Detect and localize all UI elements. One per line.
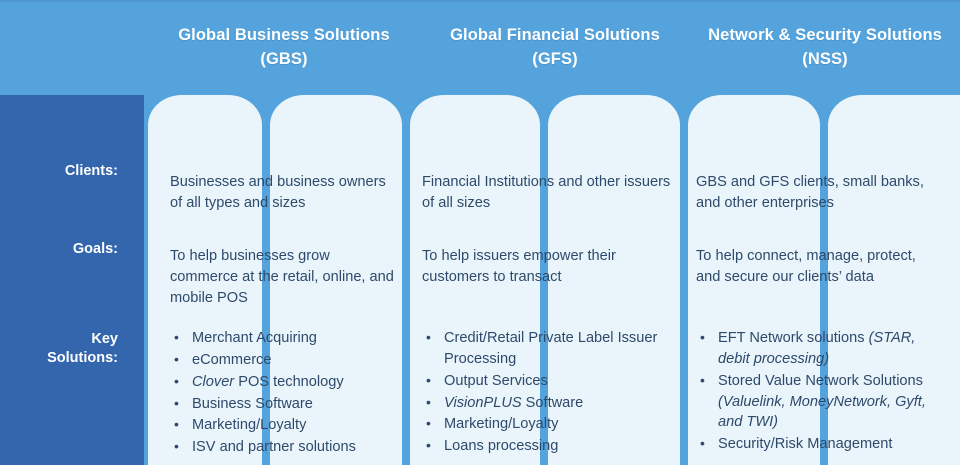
- nss-key-solutions-list: EFT Network solutions (STAR, debit proce…: [696, 328, 936, 455]
- header-column-gbs: Global Business Solutions (GBS): [148, 0, 420, 95]
- bottom-white-margin: [0, 465, 960, 473]
- gbs-clients-block: Businesses and business owners of all ty…: [170, 172, 400, 214]
- nss-goals-block: To help connect, manage, protect, and se…: [696, 246, 936, 288]
- gbs-ks-5: ISV and partner solutions: [192, 439, 356, 455]
- gbs-ks-0: Merchant Acquiring: [192, 330, 317, 346]
- gfs-key-solutions-list: Credit/Retail Private Label Issuer Proce…: [422, 328, 672, 457]
- solutions-matrix-slide: Global Business Solutions (GBS) Global F…: [0, 0, 960, 473]
- gfs-ks-2-italic: VisionPLUS: [444, 395, 522, 411]
- header-column-nss: Network & Security Solutions (NSS): [690, 0, 960, 95]
- header-gbs-line1: Global Business Solutions: [178, 26, 390, 44]
- nss-ks-1: Stored Value Network Solutions: [718, 373, 923, 389]
- list-item: Merchant Acquiring: [170, 328, 400, 349]
- list-item: Business Software: [170, 394, 400, 415]
- list-item: Marketing/Loyalty: [422, 414, 672, 435]
- column-nss: GBS and GFS clients, small banks, and ot…: [696, 88, 936, 465]
- gfs-ks-1: Output Services: [444, 373, 548, 389]
- header-titles: Global Business Solutions (GBS) Global F…: [0, 0, 960, 95]
- nss-goals-text: To help connect, manage, protect, and se…: [696, 246, 936, 288]
- nss-clients-text: GBS and GFS clients, small banks, and ot…: [696, 172, 936, 214]
- nss-ks-2: Security/Risk Management: [718, 436, 892, 452]
- gbs-ks-1: eCommerce: [192, 352, 271, 368]
- gfs-ks-4: Loans processing: [444, 438, 558, 454]
- header-nss-line1: Network & Security Solutions: [708, 26, 942, 44]
- header-gbs-line2: (GBS): [260, 50, 307, 68]
- nss-clients-block: GBS and GFS clients, small banks, and ot…: [696, 172, 936, 214]
- list-item: Loans processing: [422, 436, 672, 457]
- header-nss-line2: (NSS): [802, 50, 847, 68]
- column-gbs: Businesses and business owners of all ty…: [170, 88, 400, 465]
- list-item: Security/Risk Management: [696, 434, 936, 455]
- gbs-ks-4: Marketing/Loyalty: [192, 417, 306, 433]
- gfs-ks-2: Software: [522, 395, 584, 411]
- list-item: EFT Network solutions (STAR, debit proce…: [696, 328, 936, 370]
- gbs-key-solutions-list: Merchant Acquiring eCommerce Clover POS …: [170, 328, 400, 458]
- gfs-goals-text: To help issuers empower their customers …: [422, 246, 672, 288]
- list-item: Output Services: [422, 371, 672, 392]
- gfs-clients-text: Financial Institutions and other issuers…: [422, 172, 672, 214]
- gfs-key-solutions-block: Credit/Retail Private Label Issuer Proce…: [422, 328, 672, 458]
- list-item: VisionPLUS Software: [422, 393, 672, 414]
- header-gfs-line2: (GFS): [532, 50, 577, 68]
- gbs-ks-2: POS technology: [234, 374, 344, 390]
- gfs-goals-block: To help issuers empower their customers …: [422, 246, 672, 288]
- gfs-ks-3: Marketing/Loyalty: [444, 416, 558, 432]
- content-columns: Businesses and business owners of all ty…: [0, 88, 960, 465]
- nss-ks-0: EFT Network solutions: [718, 330, 869, 346]
- header-column-gfs: Global Financial Solutions (GFS): [420, 0, 690, 95]
- nss-ks-1-italic: (Valuelink, MoneyNetwork, Gyft, and TWI): [718, 394, 926, 431]
- header-gfs-line1: Global Financial Solutions: [450, 26, 660, 44]
- list-item: eCommerce: [170, 350, 400, 371]
- list-item: Clover POS technology: [170, 372, 400, 393]
- gbs-goals-block: To help businesses grow commerce at the …: [170, 246, 400, 309]
- gbs-clients-text: Businesses and business owners of all ty…: [170, 172, 400, 214]
- column-gfs: Financial Institutions and other issuers…: [422, 88, 672, 465]
- list-item: Credit/Retail Private Label Issuer Proce…: [422, 328, 672, 370]
- gfs-clients-block: Financial Institutions and other issuers…: [422, 172, 672, 214]
- nss-key-solutions-block: EFT Network solutions (STAR, debit proce…: [696, 328, 936, 456]
- list-item: ISV and partner solutions: [170, 437, 400, 458]
- gbs-ks-3: Business Software: [192, 396, 313, 412]
- gfs-ks-0: Credit/Retail Private Label Issuer Proce…: [444, 330, 657, 367]
- gbs-goals-text: To help businesses grow commerce at the …: [170, 246, 400, 309]
- list-item: Marketing/Loyalty: [170, 415, 400, 436]
- list-item: Stored Value Network Solutions (Valuelin…: [696, 371, 936, 434]
- gbs-key-solutions-block: Merchant Acquiring eCommerce Clover POS …: [170, 328, 400, 459]
- header-spacer: [0, 0, 148, 95]
- gbs-ks-2-italic: Clover: [192, 374, 234, 390]
